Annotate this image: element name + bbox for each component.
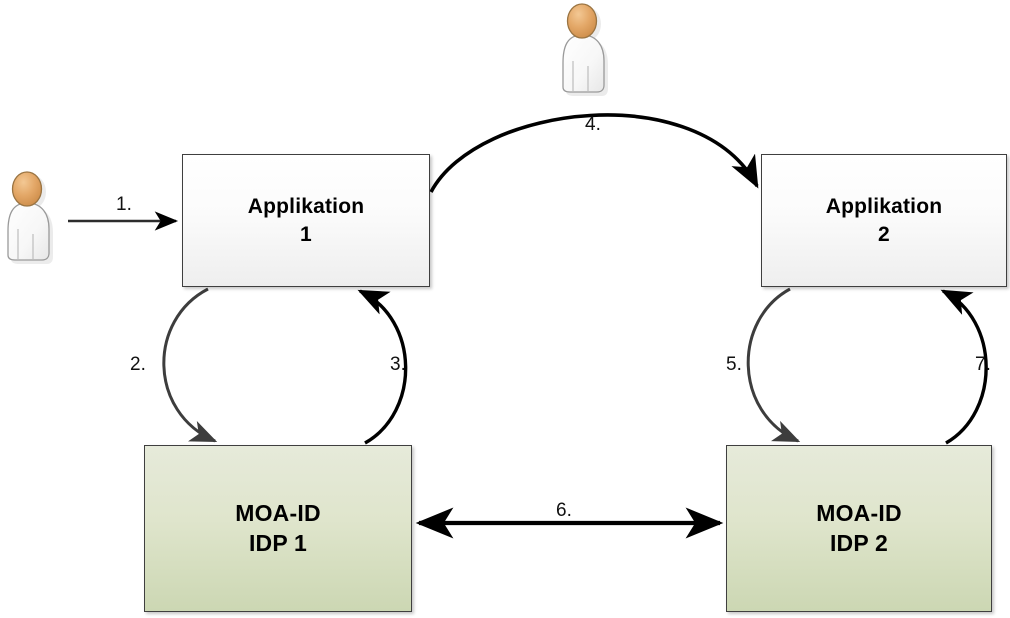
- application-2-index: 2: [878, 221, 890, 248]
- application-1-box[interactable]: Applikation 1: [182, 154, 430, 287]
- connector-step-2: [164, 289, 215, 441]
- user-actor-top: [563, 4, 608, 96]
- step-label-5: 5.: [726, 354, 742, 376]
- connector-step-5: [748, 289, 798, 441]
- moa-id-idp-2-box[interactable]: MOA-ID IDP 2: [726, 445, 992, 612]
- application-2-box[interactable]: Applikation 2: [761, 154, 1007, 287]
- moa-id-idp-2-index: IDP 2: [830, 529, 888, 559]
- moa-id-idp-1-box[interactable]: MOA-ID IDP 1: [144, 445, 412, 612]
- user-actor-left: [8, 172, 53, 264]
- step-label-2: 2.: [130, 354, 146, 376]
- step-label-4: 4.: [585, 114, 601, 136]
- application-2-title: Applikation: [826, 193, 943, 220]
- application-1-index: 1: [300, 221, 312, 248]
- moa-id-idp-2-title: MOA-ID: [816, 499, 902, 529]
- moa-id-idp-1-index: IDP 1: [249, 529, 307, 559]
- step-label-1: 1.: [116, 194, 132, 216]
- step-label-3: 3.: [390, 354, 406, 376]
- application-1-title: Applikation: [248, 193, 365, 220]
- step-label-7: 7.: [975, 354, 991, 376]
- step-label-6: 6.: [556, 500, 572, 522]
- moa-id-idp-1-title: MOA-ID: [235, 499, 321, 529]
- diagram-canvas: Applikation 1 Applikation 2 MOA-ID IDP 1…: [0, 0, 1010, 618]
